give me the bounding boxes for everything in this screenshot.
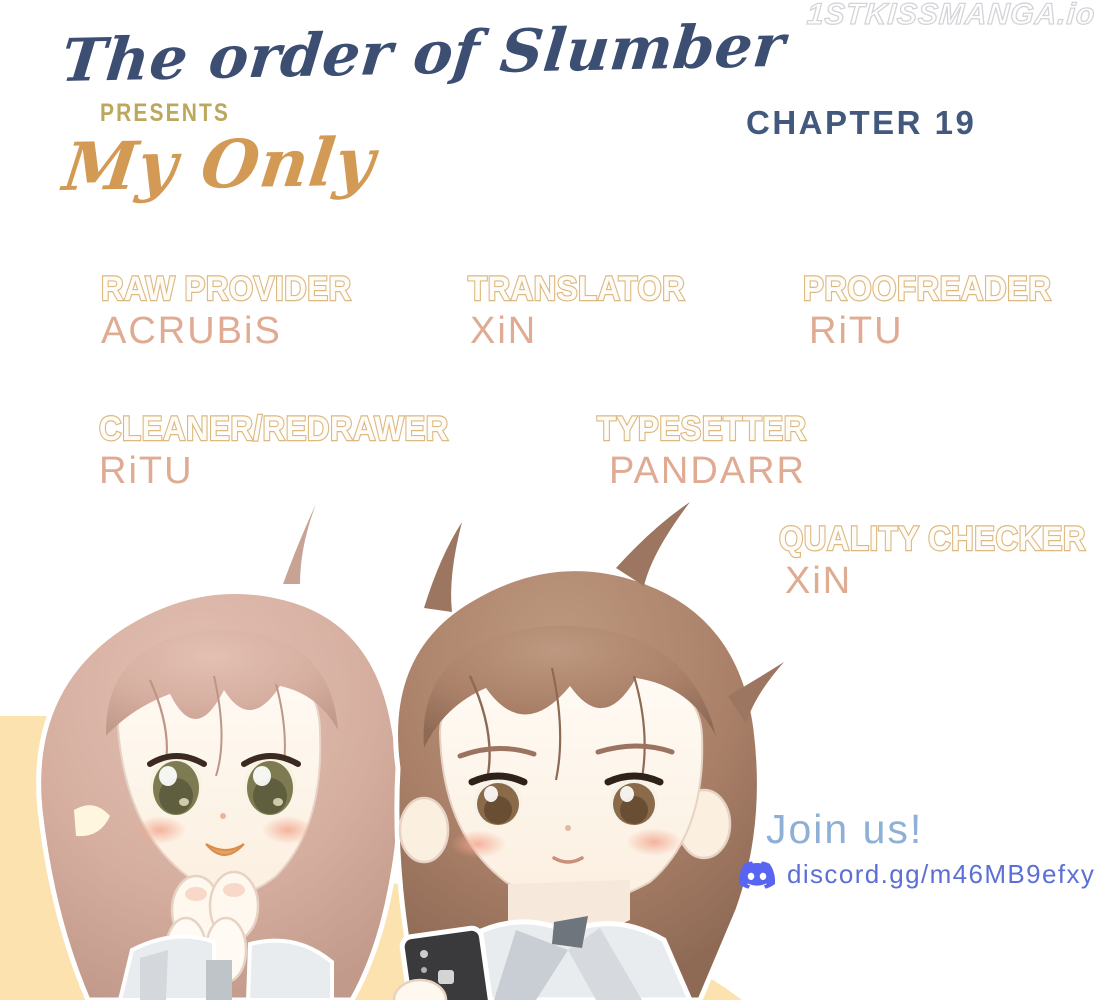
credit-raw-provider: RAW PROVIDER ACRUBiS [101, 272, 373, 353]
credit-translator: TRANSLATOR XiN [468, 272, 704, 353]
credit-role-label: CLEANER/REDRAWER [99, 412, 449, 446]
chibi-couple-illustration [0, 480, 820, 1000]
join-us-label: Join us! [766, 806, 923, 853]
credit-role-label: RAW PROVIDER [101, 272, 352, 306]
credit-proofreader: PROOFREADER RiTU [803, 272, 1073, 353]
girl-character [39, 504, 400, 1000]
phone-in-hand [394, 927, 495, 1000]
discord-invite-link[interactable]: discord.gg/m46MB9efxy [787, 859, 1095, 890]
credit-name-value: XiN [785, 560, 1111, 603]
credit-name-value: RiTU [809, 310, 1073, 353]
credit-role-label: PROOFREADER [803, 272, 1051, 306]
chapter-label: CHAPTER 19 [746, 104, 976, 142]
credit-role-label: QUALITY CHECKER [779, 522, 1086, 556]
credit-quality-checker: QUALITY CHECKER XiN [779, 522, 1111, 603]
discord-invite[interactable]: discord.gg/m46MB9efxy [739, 859, 1095, 890]
site-watermark: 1STKISSMANGA.io [805, 0, 1096, 32]
subtitle-my-only: My Only [59, 123, 380, 206]
discord-icon [739, 861, 775, 889]
credit-role-label: TYPESETTER [597, 412, 807, 446]
credit-name-value: ACRUBiS [101, 310, 373, 353]
credits-page: 1STKISSMANGA.io The order of Slumber PRE… [0, 0, 1111, 1000]
presents-label: PRESENTS [100, 99, 230, 128]
credit-role-label: TRANSLATOR [468, 272, 685, 306]
credit-name-value: XiN [470, 310, 704, 353]
series-title: The order of Slumber [58, 11, 788, 95]
boy-character [394, 502, 784, 1000]
